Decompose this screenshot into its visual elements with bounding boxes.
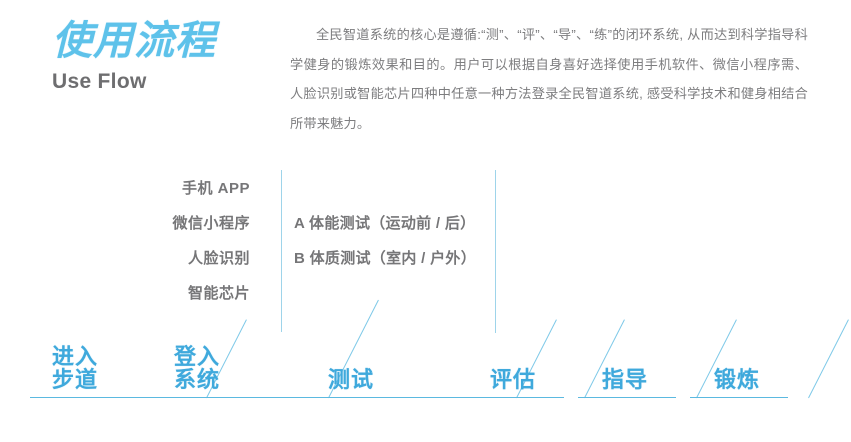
detail-area: 手机 APP 微信小程序 人脸识别 智能芯片 A 体能测试（运动前 / 后） B… xyxy=(0,160,851,335)
list-item: 人脸识别 xyxy=(110,241,250,276)
list-item: A 体能测试（运动前 / 后） xyxy=(294,206,514,241)
flow-step-6[interactable]: 锻炼 xyxy=(690,330,840,398)
flow-step-label-line1: 评估 xyxy=(490,368,536,392)
flow-step-baseline xyxy=(466,397,564,398)
flow-step-label-line2: 步道 xyxy=(52,368,98,392)
flow-step-label-line2: 系统 xyxy=(174,368,220,392)
flow-step-label-line1: 锻炼 xyxy=(714,368,760,392)
list-item: 微信小程序 xyxy=(110,206,250,241)
flow-step-label-line1: 指导 xyxy=(602,368,648,392)
flow-step-baseline xyxy=(150,397,308,398)
title-block: 使用流程 Use Flow xyxy=(52,18,282,94)
flow-step-label-line1: 进入 xyxy=(52,345,98,369)
flow-step-label: 登入 系统 xyxy=(174,345,220,393)
list-item: B 体质测试（室内 / 户外） xyxy=(294,241,514,276)
flow-step-baseline xyxy=(578,397,676,398)
header-area: 使用流程 Use Flow 全民智道系统的核心是遵循:“测”、“评”、“导”、“… xyxy=(0,0,851,160)
divider-vertical-right xyxy=(495,170,496,333)
flow-step-slash xyxy=(808,319,849,398)
flow-bar: 进入 步道 登入 系统 测试 评估 指导 xyxy=(0,330,851,405)
flow-step-baseline xyxy=(690,397,788,398)
list-item: 手机 APP xyxy=(110,171,250,206)
list-item: 智能芯片 xyxy=(110,276,250,311)
flow-step-label: 测试 xyxy=(328,368,374,392)
test-type-list: A 体能测试（运动前 / 后） B 体质测试（室内 / 户外） xyxy=(294,206,514,276)
divider-vertical-left xyxy=(281,170,282,332)
flow-step-label-line1: 测试 xyxy=(328,368,374,392)
flow-step-label: 评估 xyxy=(490,368,536,392)
flow-step-label-line1: 登入 xyxy=(174,345,220,369)
page-title-en: Use Flow xyxy=(52,70,282,94)
flow-step-label: 指导 xyxy=(602,368,648,392)
login-method-list: 手机 APP 微信小程序 人脸识别 智能芯片 xyxy=(110,171,250,311)
flow-step-label: 进入 步道 xyxy=(52,345,98,393)
page-title-cn: 使用流程 xyxy=(52,18,282,64)
flow-step-label: 锻炼 xyxy=(714,368,760,392)
intro-paragraph: 全民智道系统的核心是遵循:“测”、“评”、“导”、“练”的闭环系统, 从而达到科… xyxy=(290,20,808,138)
